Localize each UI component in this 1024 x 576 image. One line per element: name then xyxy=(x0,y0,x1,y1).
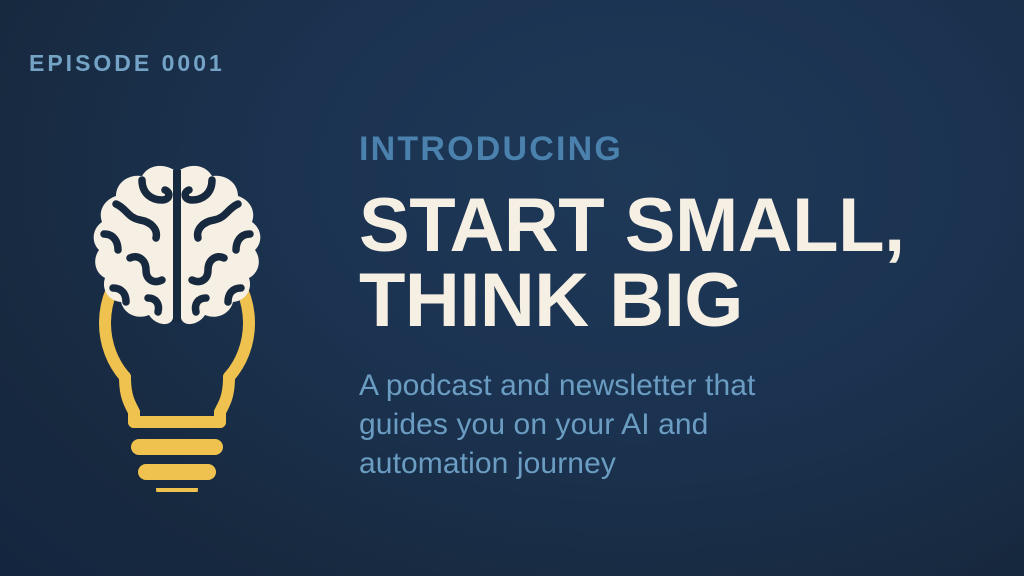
slide-canvas: EPISODE 0001 xyxy=(0,0,1024,576)
subtitle-line-3: automation journey xyxy=(359,444,999,483)
headline-line-2: THINK BIG xyxy=(359,263,999,338)
brain-lightbulb-icon xyxy=(52,112,302,492)
text-column: INTRODUCING START SMALL, THINK BIG A pod… xyxy=(359,132,999,483)
brain-shape xyxy=(94,166,261,324)
bulb-base-bars xyxy=(131,439,223,492)
subtitle-line-1: A podcast and newsletter that xyxy=(359,366,999,405)
page-title: START SMALL, THINK BIG xyxy=(359,188,999,338)
episode-label: EPISODE 0001 xyxy=(29,50,225,77)
headline-line-1: START SMALL, xyxy=(359,188,999,263)
subtitle: A podcast and newsletter that guides you… xyxy=(359,366,999,483)
introducing-eyebrow: INTRODUCING xyxy=(359,132,999,166)
subtitle-line-2: guides you on your AI and xyxy=(359,405,999,444)
